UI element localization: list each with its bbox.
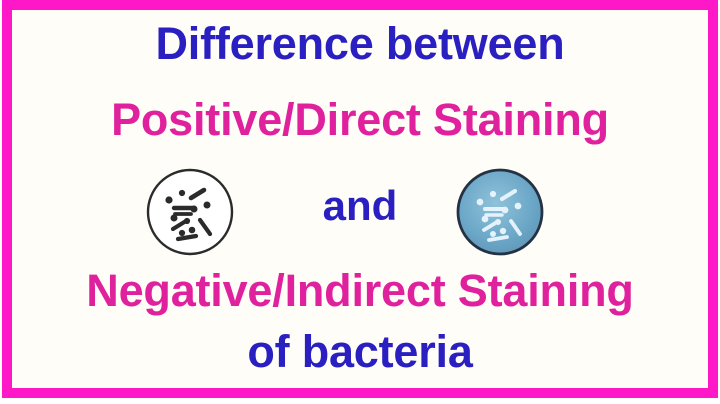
conjunction-and-label: and [12,182,708,230]
positive-staining-diagram [144,166,236,258]
negative-staining-icon [454,166,546,258]
subject-line-of-bacteria: of bacteria [12,326,708,378]
positive-staining-heading: Positive/Direct Staining [12,94,708,146]
negative-staining-heading: Negative/Indirect Staining [12,265,708,317]
positive-staining-icon [144,166,236,258]
negative-staining-diagram [454,166,546,258]
diagram-row: and [12,160,708,262]
slide-content: Difference between Positive/Direct Stain… [12,10,708,388]
slide-canvas: Difference between Positive/Direct Stain… [0,0,720,404]
title-line-difference-between: Difference between [12,18,708,70]
